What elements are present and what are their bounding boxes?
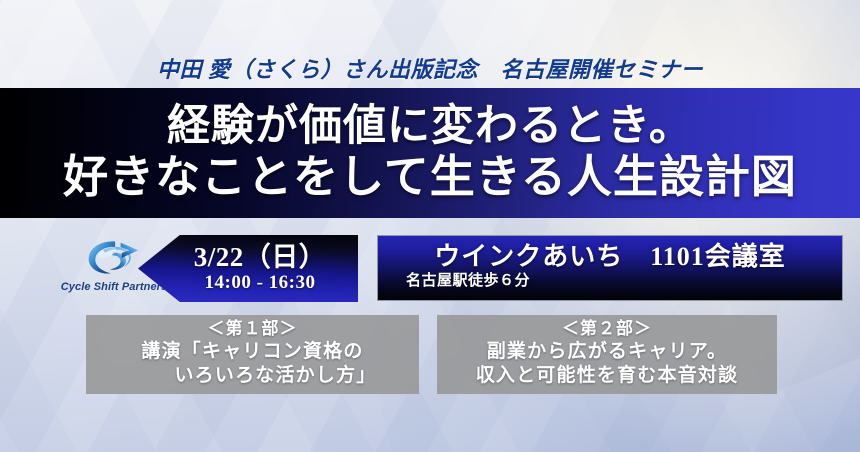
program-part-2-line-1: 副業から広がるキャリア。 (487, 340, 728, 364)
venue-name: ウインクあいち 1101会議室 (434, 243, 786, 272)
logo-wordmark: Cycle Shift Partners (61, 281, 168, 293)
venue-box: ウインクあいち 1101会議室 名古屋駅徒歩６分 (377, 235, 843, 301)
program-part-1-line-1: 講演「キャリコン資格の (141, 340, 363, 364)
program-part-2: ＜第２部＞ 副業から広がるキャリア。 収入と可能性を育む本音対談 (437, 315, 777, 394)
program-part-2-line-2: 収入と可能性を育む本音対談 (476, 364, 739, 388)
program-part-1-line-2: いろいろな活かし方」 (128, 364, 376, 388)
event-time: 14:00 - 16:30 (205, 272, 316, 294)
page-title-line-1: 経験が価値に変わるとき。 (167, 104, 693, 150)
program-part-1-heading: ＜第１部＞ (208, 319, 298, 339)
cycle-swirl-icon (81, 236, 147, 280)
program-part-1: ＜第１部＞ 講演「キャリコン資格の いろいろな活かし方」 (86, 315, 419, 394)
title-band: 経験が価値に変わるとき。 好きなことをして生きる人生設計図 (0, 88, 860, 218)
poster-subtitle: 中田 愛（さくら）さん出版記念 名古屋開催セミナー (0, 52, 860, 84)
date-banner: 3/22（日） 14:00 - 16:30 (138, 235, 358, 302)
event-date: 3/22（日） (194, 243, 327, 271)
seminar-poster: 中田 愛（さくら）さん出版記念 名古屋開催セミナー 経験が価値に変わるとき。 好… (0, 0, 860, 452)
program-part-2-heading: ＜第２部＞ (562, 319, 652, 339)
venue-access: 名古屋駅徒歩６分 (406, 272, 530, 291)
page-title-line-2: 好きなことをして生きる人生設計図 (63, 153, 797, 202)
